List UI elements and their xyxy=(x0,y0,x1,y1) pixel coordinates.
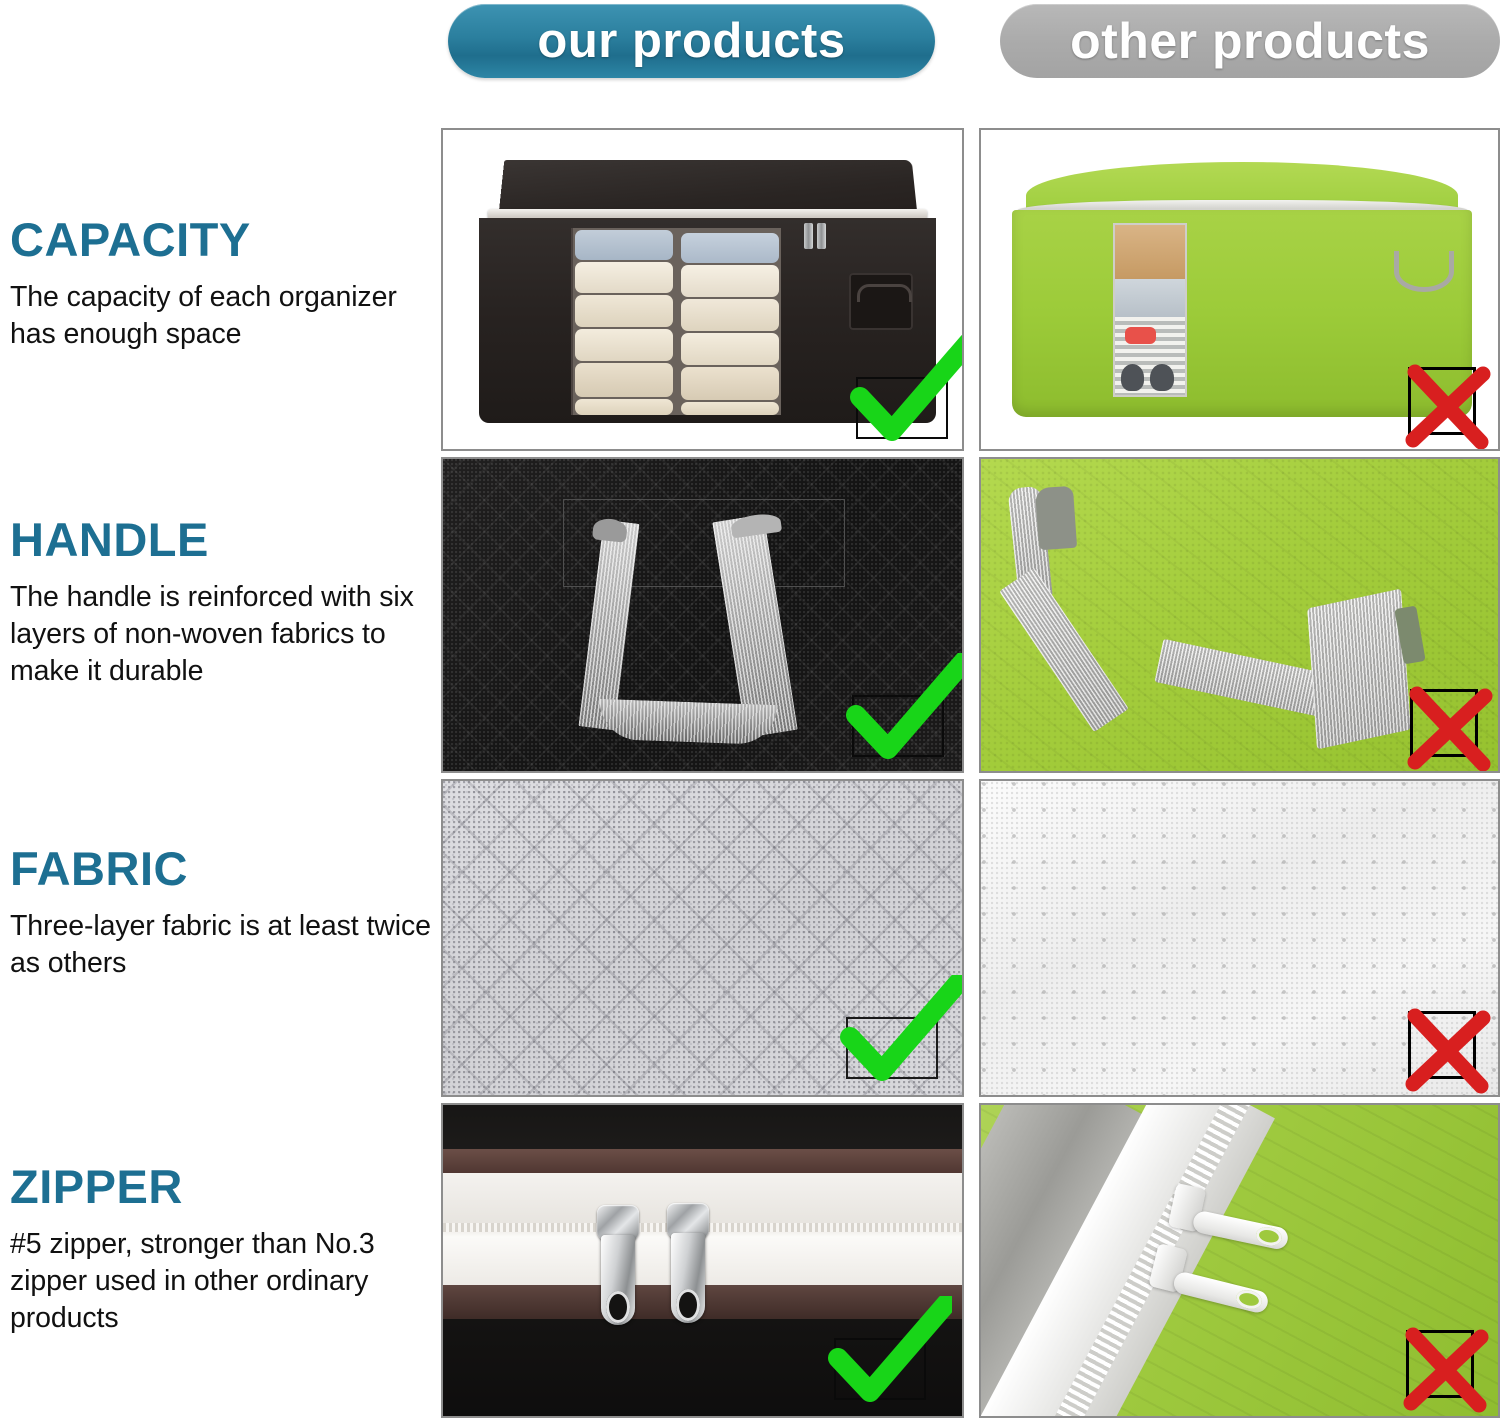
our-products-label: our products xyxy=(537,13,845,69)
other-products-label: other products xyxy=(1070,12,1430,70)
feature-text-zipper: ZIPPER #5 zipper, stronger than No.3 zip… xyxy=(10,1163,442,1337)
x-badge-box xyxy=(1410,689,1478,757)
check-badge-box xyxy=(846,1017,938,1079)
header-row: our products other products xyxy=(0,0,1500,95)
feature-text-handle: HANDLE The handle is reinforced with six… xyxy=(10,516,442,690)
feature-title-handle: HANDLE xyxy=(10,516,442,563)
comparison-infographic: our products other products CAPACITY The… xyxy=(0,0,1500,1418)
x-badge-box xyxy=(1408,367,1476,435)
check-icon xyxy=(834,975,964,1083)
feature-text-capacity: CAPACITY The capacity of each organizer … xyxy=(10,216,442,353)
brown-piping-top xyxy=(443,1149,962,1175)
side-handle xyxy=(849,273,913,329)
image-ours-handle xyxy=(441,457,964,773)
image-ours-capacity xyxy=(441,128,964,451)
feature-desc-handle: The handle is reinforced with six layers… xyxy=(10,579,442,690)
other-products-pill: other products xyxy=(1000,4,1500,78)
feature-desc-zipper: #5 zipper, stronger than No.3 zipper use… xyxy=(10,1226,442,1337)
feature-desc-fabric: Three-layer fabric is at least twice as … xyxy=(10,908,442,982)
side-handle xyxy=(1394,251,1454,292)
feature-title-fabric: FABRIC xyxy=(10,845,442,892)
check-badge-box xyxy=(856,377,948,439)
our-products-pill: our products xyxy=(448,4,935,78)
check-icon xyxy=(840,653,964,761)
x-badge-box xyxy=(1408,1011,1476,1079)
x-icon xyxy=(1397,356,1497,451)
x-icon xyxy=(1399,678,1499,773)
zipper-pull-icon xyxy=(804,223,813,249)
feature-title-zipper: ZIPPER xyxy=(10,1163,442,1210)
check-badge-box xyxy=(834,1338,926,1400)
strap-shadow xyxy=(1035,486,1077,550)
bag-window xyxy=(1113,223,1187,397)
image-other-zipper xyxy=(979,1103,1500,1418)
black-fabric-top xyxy=(443,1105,962,1151)
image-other-capacity xyxy=(979,128,1500,451)
image-other-handle xyxy=(979,457,1500,773)
feature-desc-capacity: The capacity of each organizer has enoug… xyxy=(10,279,442,353)
zipper-pull-icon xyxy=(817,223,826,249)
image-ours-fabric xyxy=(441,779,964,1097)
feature-title-capacity: CAPACITY xyxy=(10,216,442,263)
x-icon xyxy=(1397,1000,1497,1097)
handle-strap-bottom xyxy=(598,699,777,745)
image-other-fabric xyxy=(979,779,1500,1097)
check-badge-box xyxy=(852,695,944,757)
x-icon xyxy=(1395,1319,1495,1418)
x-badge-box xyxy=(1406,1330,1474,1398)
image-ours-zipper xyxy=(441,1103,964,1418)
handle-strap-mid-left xyxy=(999,568,1129,732)
feature-text-fabric: FABRIC Three-layer fabric is at least tw… xyxy=(10,845,442,982)
